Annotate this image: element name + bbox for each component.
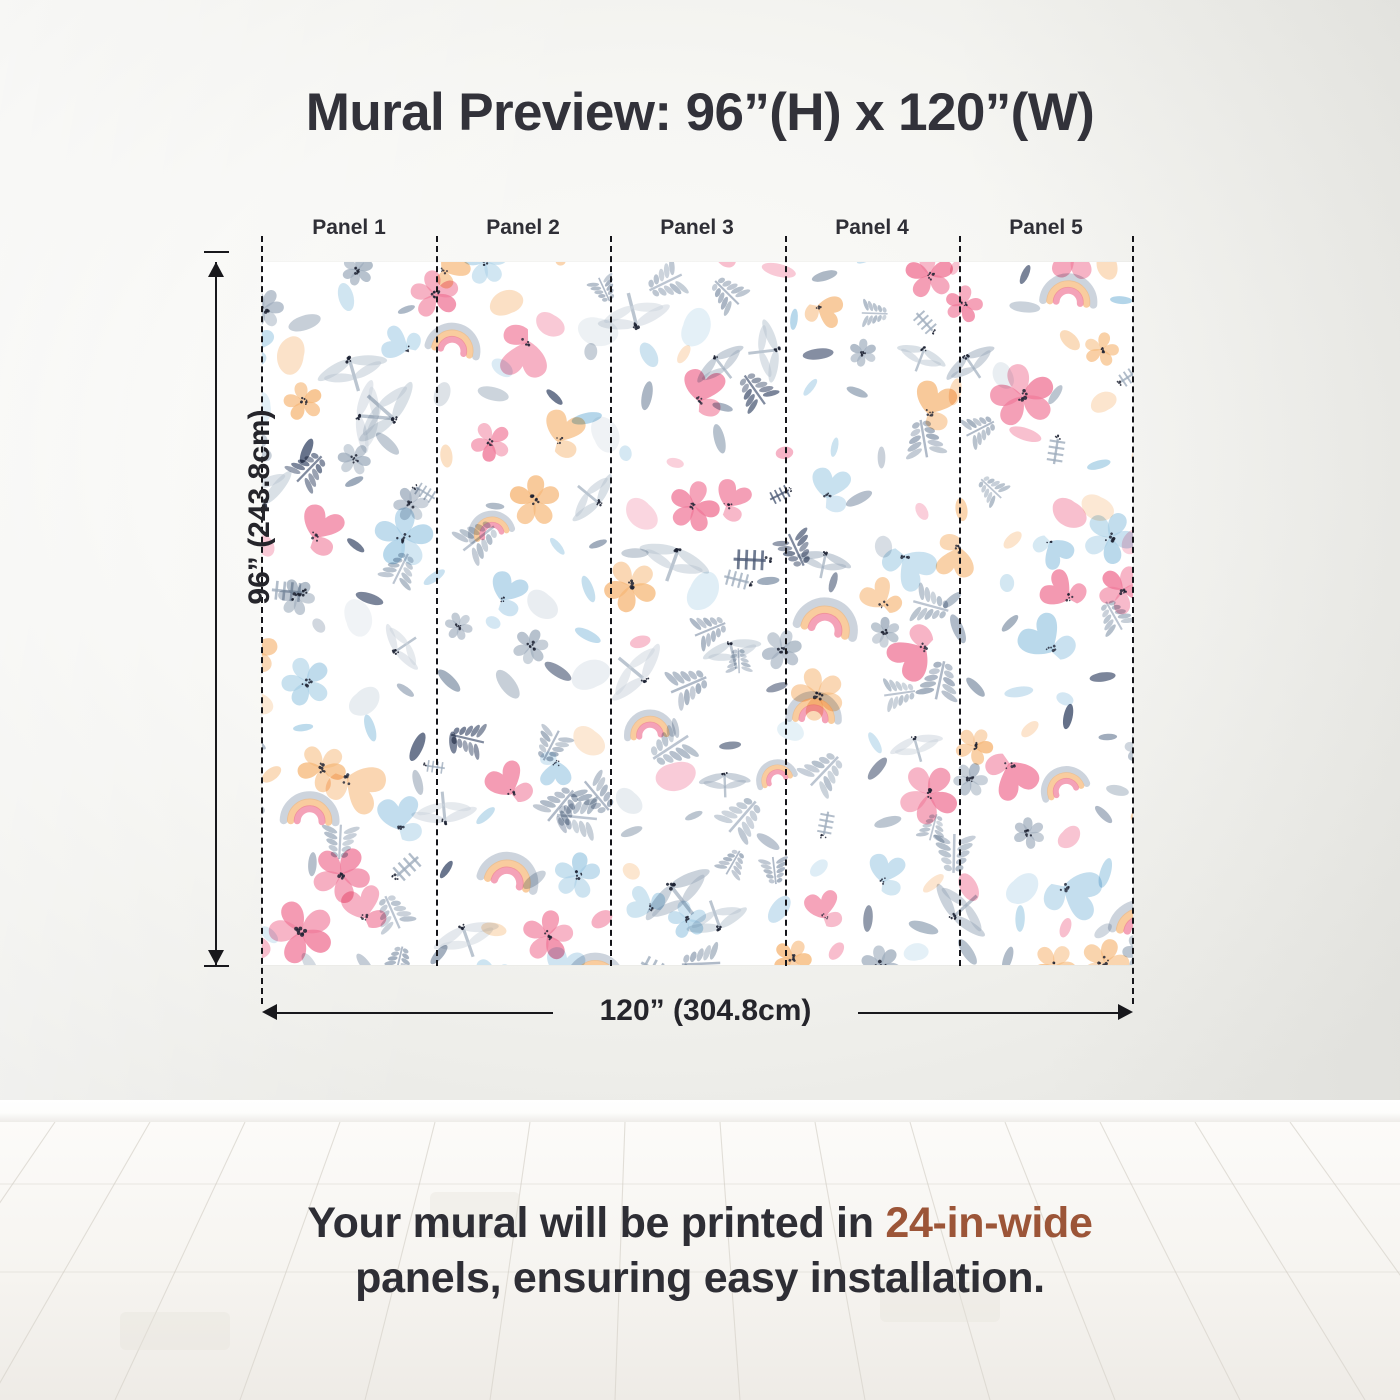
height-arrow-down [208, 950, 224, 965]
panel-divider-4 [959, 236, 961, 966]
panel-label-5: Panel 5 [959, 216, 1133, 240]
width-arrow-right [1118, 1004, 1133, 1020]
height-tick-bottom [204, 965, 229, 967]
mural-preview-artwork [262, 262, 1133, 965]
height-arrow-up [208, 262, 224, 277]
panel-label-3: Panel 3 [610, 216, 784, 240]
caption-line-1: Your mural will be printed in 24-in-wide [0, 1196, 1400, 1251]
height-dimension-line [215, 262, 217, 965]
panel-label-2: Panel 2 [436, 216, 610, 240]
panel-label-1: Panel 1 [262, 216, 436, 240]
page-title: Mural Preview: 96”(H) x 120”(W) [0, 82, 1400, 143]
width-dimension-line-left [276, 1012, 553, 1014]
room-scene: Mural Preview: 96”(H) x 120”(W) Panel 1 … [0, 0, 1400, 1400]
caption-line-1-text: Your mural will be printed in [307, 1199, 885, 1247]
panel-divider-2 [610, 236, 612, 966]
panel-divider-3 [785, 236, 787, 966]
height-dimension-label: 96” (243.8cm) [243, 377, 277, 637]
width-dimension-label: 120” (304.8cm) [553, 994, 858, 1028]
height-tick-top [204, 251, 229, 253]
panel-label-4: Panel 4 [785, 216, 959, 240]
width-arrow-left [262, 1004, 277, 1020]
mural-edge-right [1132, 236, 1134, 1004]
width-dimension-line-right [858, 1012, 1119, 1014]
panel-divider-1 [436, 236, 438, 966]
caption-accent: 24-in-wide [885, 1199, 1092, 1247]
caption-line-2: panels, ensuring easy installation. [0, 1251, 1400, 1306]
caption: Your mural will be printed in 24-in-wide… [0, 1196, 1400, 1306]
baseboard [0, 1100, 1400, 1123]
